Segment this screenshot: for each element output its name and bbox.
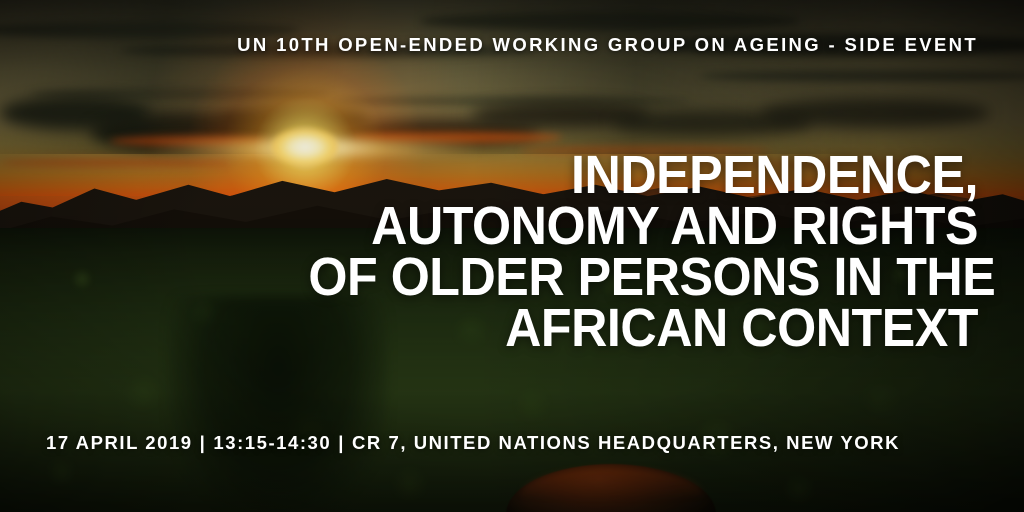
event-venue: CR 7, UNITED NATIONS HEADQUARTERS, NEW Y…: [352, 434, 900, 453]
detail-separator-1: |: [193, 434, 214, 453]
page-title: INDEPENDENCE, AUTONOMY AND RIGHTS OF OLD…: [258, 150, 978, 354]
event-kicker: UN 10TH OPEN-ENDED WORKING GROUP ON AGEI…: [237, 36, 978, 55]
event-date: 17 APRIL 2019: [46, 434, 193, 453]
event-details-text: 17 APRIL 2019|13:15-14:30|CR 7, UNITED N…: [46, 434, 900, 453]
headline-line-4: AFRICAN CONTEXT: [308, 303, 978, 354]
poster-content: UN 10TH OPEN-ENDED WORKING GROUP ON AGEI…: [0, 0, 1024, 512]
event-poster: UN 10TH OPEN-ENDED WORKING GROUP ON AGEI…: [0, 0, 1024, 512]
event-details-bar: 17 APRIL 2019|13:15-14:30|CR 7, UNITED N…: [46, 434, 978, 453]
headline-line-3: OF OLDER PERSONS IN THE: [308, 252, 978, 303]
detail-separator-2: |: [331, 434, 352, 453]
event-time: 13:15-14:30: [213, 434, 331, 453]
headline-line-1: INDEPENDENCE,: [308, 150, 978, 201]
headline-line-2: AUTONOMY AND RIGHTS: [308, 201, 978, 252]
